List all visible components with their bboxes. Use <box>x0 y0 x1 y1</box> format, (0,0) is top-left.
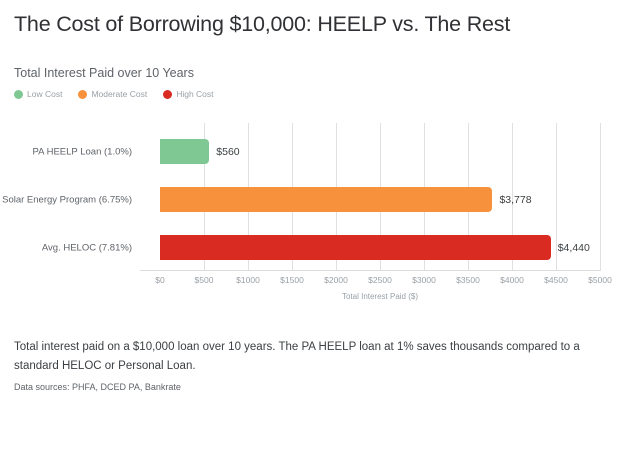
bar[interactable] <box>160 235 551 260</box>
category-label: PA HEELP Loan (1.0%) <box>33 146 132 157</box>
page-title: The Cost of Borrowing $10,000: HEELP vs.… <box>14 12 510 37</box>
category-label: Avg. HELOC (7.81%) <box>42 242 132 253</box>
x-tick-label: $2000 <box>324 275 348 285</box>
legend-swatch-icon <box>14 90 23 99</box>
bar-value-label: $560 <box>216 146 239 158</box>
legend-item[interactable]: Low Cost <box>14 90 62 99</box>
x-tick-label: $4500 <box>544 275 568 285</box>
legend-item[interactable]: Moderate Cost <box>78 90 147 99</box>
legend-label: High Cost <box>176 90 213 99</box>
bar-row: Solar Energy Program (6.75%)$3,778 <box>160 187 600 212</box>
plot-area: PA HEELP Loan (1.0%)$560Solar Energy Pro… <box>160 123 600 282</box>
x-tick-label: $0 <box>155 275 164 285</box>
x-tick-label: $4000 <box>500 275 524 285</box>
chart-page: The Cost of Borrowing $10,000: HEELP vs.… <box>0 0 620 465</box>
legend-label: Moderate Cost <box>91 90 147 99</box>
bar-rows: PA HEELP Loan (1.0%)$560Solar Energy Pro… <box>160 123 600 271</box>
x-tick-label: $3500 <box>456 275 480 285</box>
x-tick-label: $2500 <box>368 275 392 285</box>
legend-swatch-icon <box>78 90 87 99</box>
bar-value-label: $3,778 <box>499 194 531 206</box>
category-label: Solar Energy Program (6.75%) <box>2 194 132 205</box>
bar[interactable] <box>160 139 209 164</box>
bar-value-label: $4,440 <box>558 242 590 254</box>
x-tick-label: $5000 <box>588 275 612 285</box>
x-tick-label: $1000 <box>236 275 260 285</box>
chart-subtitle: Total Interest Paid over 10 Years <box>14 66 194 80</box>
x-tick-label: $3000 <box>412 275 436 285</box>
legend-label: Low Cost <box>27 90 62 99</box>
bar-row: PA HEELP Loan (1.0%)$560 <box>160 139 600 164</box>
bar[interactable] <box>160 187 492 212</box>
divider <box>14 322 606 323</box>
x-axis-title: Total Interest Paid ($) <box>160 292 600 301</box>
legend-swatch-icon <box>163 90 172 99</box>
chart-legend: Low CostModerate CostHigh Cost <box>14 90 214 99</box>
data-sources: Data sources: PHFA, DCED PA, Bankrate <box>14 382 606 392</box>
x-tick-label: $1500 <box>280 275 304 285</box>
chart-footnote: Total interest paid on a $10,000 loan ov… <box>14 338 606 376</box>
legend-item[interactable]: High Cost <box>163 90 213 99</box>
bar-chart: PA HEELP Loan (1.0%)$560Solar Energy Pro… <box>0 112 620 312</box>
bar-row: Avg. HELOC (7.81%)$4,440 <box>160 235 600 260</box>
gridline <box>600 123 601 271</box>
x-tick-label: $500 <box>195 275 214 285</box>
